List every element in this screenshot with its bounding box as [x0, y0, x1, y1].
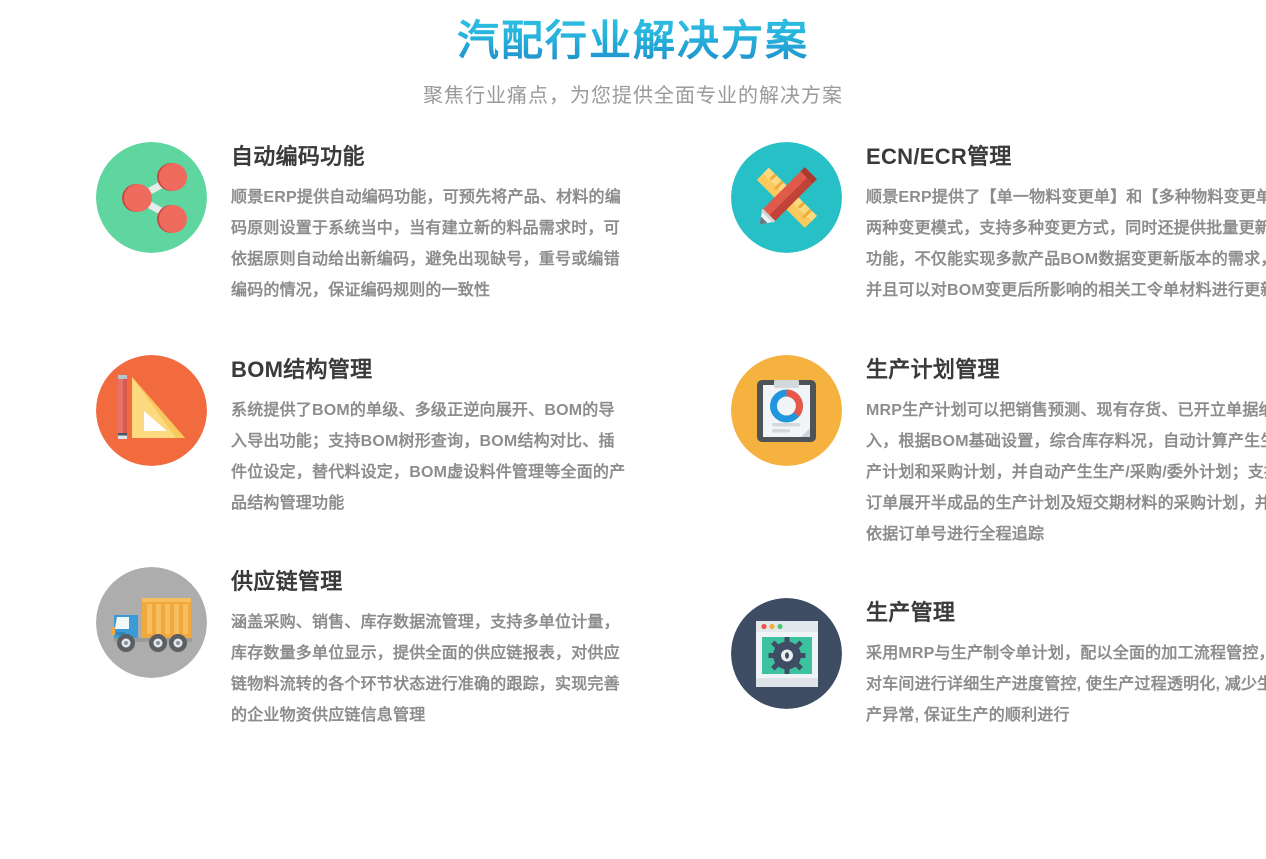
feature-body: 供应链管理 涵盖采购、销售、库存数据流管理，支持多单位计量，库存数量多单位显示，… [207, 567, 626, 731]
triangle-ruler-pencil-icon [96, 355, 207, 466]
feature-card[interactable]: ECN/ECR管理 顺景ERP提供了【单一物料变更单】和【多种物料变更单】两种变… [731, 142, 1266, 306]
share-network-icon [96, 142, 207, 253]
feature-card[interactable]: BOM结构管理 系统提供了BOM的单级、多级正逆向展开、BOM的导入导出功能；支… [96, 355, 634, 519]
feature-card[interactable]: 生产计划管理 MRP生产计划可以把销售预测、现有存货、已开立单据纳入，根据BOM… [731, 355, 1266, 550]
feature-card[interactable]: 自动编码功能 顺景ERP提供自动编码功能，可预先将产品、材料的编码原则设置于系统… [96, 142, 634, 306]
feature-body: ECN/ECR管理 顺景ERP提供了【单一物料变更单】和【多种物料变更单】两种变… [842, 142, 1266, 306]
feature-body: 生产管理 采用MRP与生产制令单计划，配以全面的加工流程管控，对车间进行详细生产… [842, 598, 1266, 731]
browser-gear-icon [731, 598, 842, 709]
feature-card[interactable]: 供应链管理 涵盖采购、销售、库存数据流管理，支持多单位计量，库存数量多单位显示，… [96, 567, 634, 731]
feature-body: 自动编码功能 顺景ERP提供自动编码功能，可预先将产品、材料的编码原则设置于系统… [207, 142, 626, 306]
feature-column-right: ECN/ECR管理 顺景ERP提供了【单一物料变更单】和【多种物料变更单】两种变… [731, 110, 1266, 731]
pencil-ruler-icon [731, 142, 842, 253]
clipboard-chart-icon [731, 355, 842, 466]
feature-description: 顺景ERP提供了【单一物料变更单】和【多种物料变更单】两种变更模式，支持多种变更… [866, 182, 1266, 306]
feature-title: BOM结构管理 [231, 355, 626, 385]
feature-description: MRP生产计划可以把销售预测、现有存货、已开立单据纳入，根据BOM基础设置，综合… [866, 395, 1266, 550]
feature-title: 生产计划管理 [866, 355, 1266, 385]
feature-title: 供应链管理 [231, 567, 626, 597]
feature-description: 系统提供了BOM的单级、多级正逆向展开、BOM的导入导出功能；支持BOM树形查询… [231, 395, 626, 519]
feature-grid: 自动编码功能 顺景ERP提供自动编码功能，可预先将产品、材料的编码原则设置于系统… [0, 110, 1266, 731]
page-title: 汽配行业解决方案 [0, 10, 1266, 72]
feature-column-left: 自动编码功能 顺景ERP提供自动编码功能，可预先将产品、材料的编码原则设置于系统… [96, 110, 634, 731]
feature-description: 涵盖采购、销售、库存数据流管理，支持多单位计量，库存数量多单位显示，提供全面的供… [231, 607, 626, 731]
feature-description: 采用MRP与生产制令单计划，配以全面的加工流程管控，对车间进行详细生产进度管控,… [866, 638, 1266, 731]
delivery-truck-icon [96, 567, 207, 678]
feature-body: 生产计划管理 MRP生产计划可以把销售预测、现有存货、已开立单据纳入，根据BOM… [842, 355, 1266, 550]
feature-title: ECN/ECR管理 [866, 142, 1266, 172]
solutions-page: 汽配行业解决方案 聚焦行业痛点，为您提供全面专业的解决方案 [0, 0, 1266, 731]
feature-description: 顺景ERP提供自动编码功能，可预先将产品、材料的编码原则设置于系统当中，当有建立… [231, 182, 626, 306]
page-header: 汽配行业解决方案 聚焦行业痛点，为您提供全面专业的解决方案 [0, 0, 1266, 110]
feature-body: BOM结构管理 系统提供了BOM的单级、多级正逆向展开、BOM的导入导出功能；支… [207, 355, 626, 519]
page-subtitle: 聚焦行业痛点，为您提供全面专业的解决方案 [0, 82, 1266, 110]
feature-card[interactable]: 生产管理 采用MRP与生产制令单计划，配以全面的加工流程管控，对车间进行详细生产… [731, 598, 1266, 731]
feature-title: 自动编码功能 [231, 142, 626, 172]
feature-title: 生产管理 [866, 598, 1266, 628]
